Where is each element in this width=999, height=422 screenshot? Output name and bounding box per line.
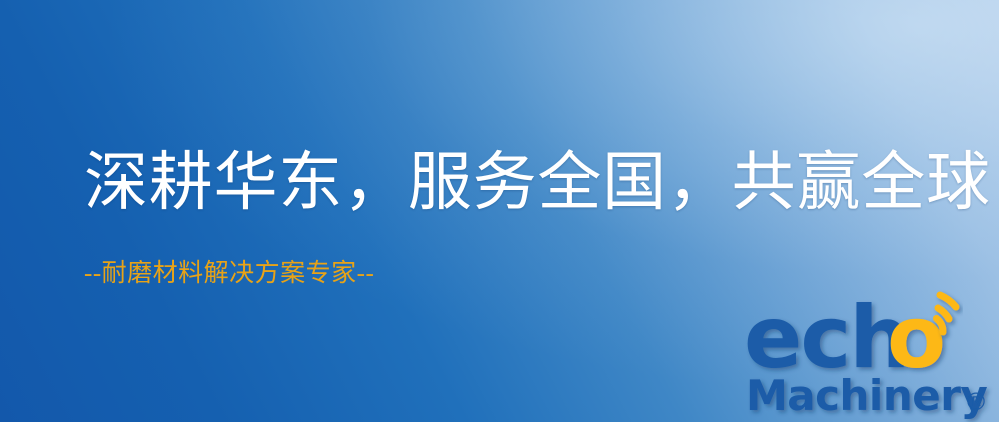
logo-trademark-symbol: ® bbox=[964, 388, 988, 416]
banner-headline: 深耕华东，服务全国，共赢全球 bbox=[84, 148, 954, 217]
logo-tagline: Machinery bbox=[746, 371, 987, 420]
echo-machinery-logo[interactable]: ech o Machinery ® bbox=[744, 292, 999, 422]
logo-tagline-group: Machinery ® bbox=[746, 371, 988, 420]
promo-banner: 深耕华东，服务全国，共赢全球 --耐磨材料解决方案专家-- ech o bbox=[0, 0, 999, 422]
banner-subtitle: --耐磨材料解决方案专家-- bbox=[84, 217, 954, 289]
banner-text-block: 深耕华东，服务全国，共赢全球 --耐磨材料解决方案专家-- bbox=[84, 148, 954, 289]
